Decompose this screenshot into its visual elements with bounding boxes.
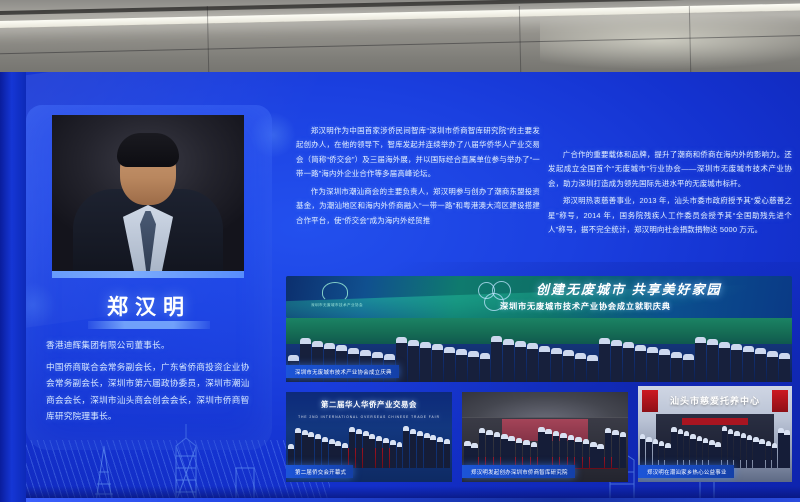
photo-red-banner: [682, 418, 748, 425]
photo-bottom-right: 汕头市慈爱托养中心 郑汉明在潮汕家乡热心公益事业: [638, 386, 792, 482]
banner-subhead: 深圳市无废城市技术产业协会成立就职庆典: [500, 300, 790, 312]
photo-group-main: 深圳市无废城市技术产业协会成立庆典: [286, 318, 792, 382]
portrait-photo: [52, 115, 244, 271]
profile-title-line: 香港迪辉集团有限公司董事长。: [46, 337, 254, 354]
article-column-left: 郑汉明作为中国首家涉侨民间智库“深圳市侨商智库研究院”的主要发起创办人，在他的领…: [296, 124, 540, 231]
photo-people: [288, 426, 450, 468]
profile-card: 郑汉明 香港迪辉集团有限公司董事长。 中国侨商联合会常务副会长，广东省侨商投资企…: [26, 105, 272, 450]
article-column-right: 广合作的重要载体和品牌，提升了潮商和侨商在海内外的影响力。还发起成立全国首个“无…: [548, 148, 792, 241]
photo-caption: 郑汉明在潮汕家乡热心公益事业: [638, 465, 734, 478]
profile-name-underline: [88, 321, 210, 329]
banner-logo-caption: 深圳市无废城市技术产业协会: [300, 303, 374, 308]
building-sign-text: 汕头市慈爱托养中心: [650, 392, 779, 410]
article-paragraph: 广合作的重要载体和品牌，提升了潮商和侨商在海内外的影响力。还发起成立全国首个“无…: [548, 148, 792, 191]
leaf-circle-logo: [322, 282, 348, 302]
hall-left-seam: [0, 72, 26, 502]
photo-caption: 深圳市无废城市技术产业协会成立庆典: [286, 365, 399, 378]
photo-people: [640, 426, 790, 468]
photo-bottom-middle: 郑汉明发起创办深圳市侨商智库研究院: [462, 392, 628, 482]
article-paragraph: 作为深圳市潮汕商会的主要负责人，郑汉明参与创办了潮商东盟投资基金，为潮汕地区和海…: [296, 185, 540, 228]
photo-bottom-left: 第二届华人华侨产业交易会 THE 2ND INTERNATIONAL OVERS…: [286, 392, 452, 482]
portrait-underbar: [52, 271, 244, 278]
photo-banner-title-text: 第二届华人华侨产业交易会: [321, 400, 417, 409]
photo-banner-subtitle-text: THE 2ND INTERNATIONAL OVERSEAS CHINESE T…: [290, 411, 448, 424]
profile-bio-text: 中国侨商联合会常务副会长，广东省侨商投资企业协会常务副会长，深圳市第六届政协委员…: [46, 359, 254, 425]
event-banner: 深圳市无废城市技术产业协会 创建无废城市 共享美好家园 深圳市无废城市技术产业协…: [286, 276, 792, 318]
board-bottom-edge: [0, 498, 800, 502]
exhibition-hall-scene: 郑汉明 香港迪辉集团有限公司董事长。 中国侨商联合会常务副会长，广东省侨商投资企…: [0, 0, 800, 502]
banner-headline: 创建无废城市 共享美好家园: [536, 279, 786, 298]
profile-bio-block: 香港迪辉集团有限公司董事长。 中国侨商联合会常务副会长，广东省侨商投资企业协会常…: [46, 337, 254, 430]
led-display-board: 郑汉明 香港迪辉集团有限公司董事长。 中国侨商联合会常务副会长，广东省侨商投资企…: [0, 72, 800, 502]
article-paragraph: 郑汉明作为中国首家涉侨民间智库“深圳市侨商智库研究院”的主要发起创办人，在他的领…: [296, 124, 540, 182]
photo-banner-title: 第二届华人华侨产业交易会 THE 2ND INTERNATIONAL OVERS…: [290, 398, 448, 415]
photo-hall-ceiling: [462, 392, 628, 418]
profile-name: 郑汉明: [26, 291, 272, 321]
portrait-hair: [117, 133, 179, 167]
photo-caption: 第二届侨交会开幕式: [286, 465, 353, 478]
article-paragraph: 郑汉明热衷慈善事业，2013 年，汕头市委市政府授予其“爱心慈善之星”称号，20…: [548, 194, 792, 237]
photo-caption: 郑汉明发起创办深圳市侨商智库研究院: [462, 465, 575, 478]
photo-people: [464, 426, 626, 468]
